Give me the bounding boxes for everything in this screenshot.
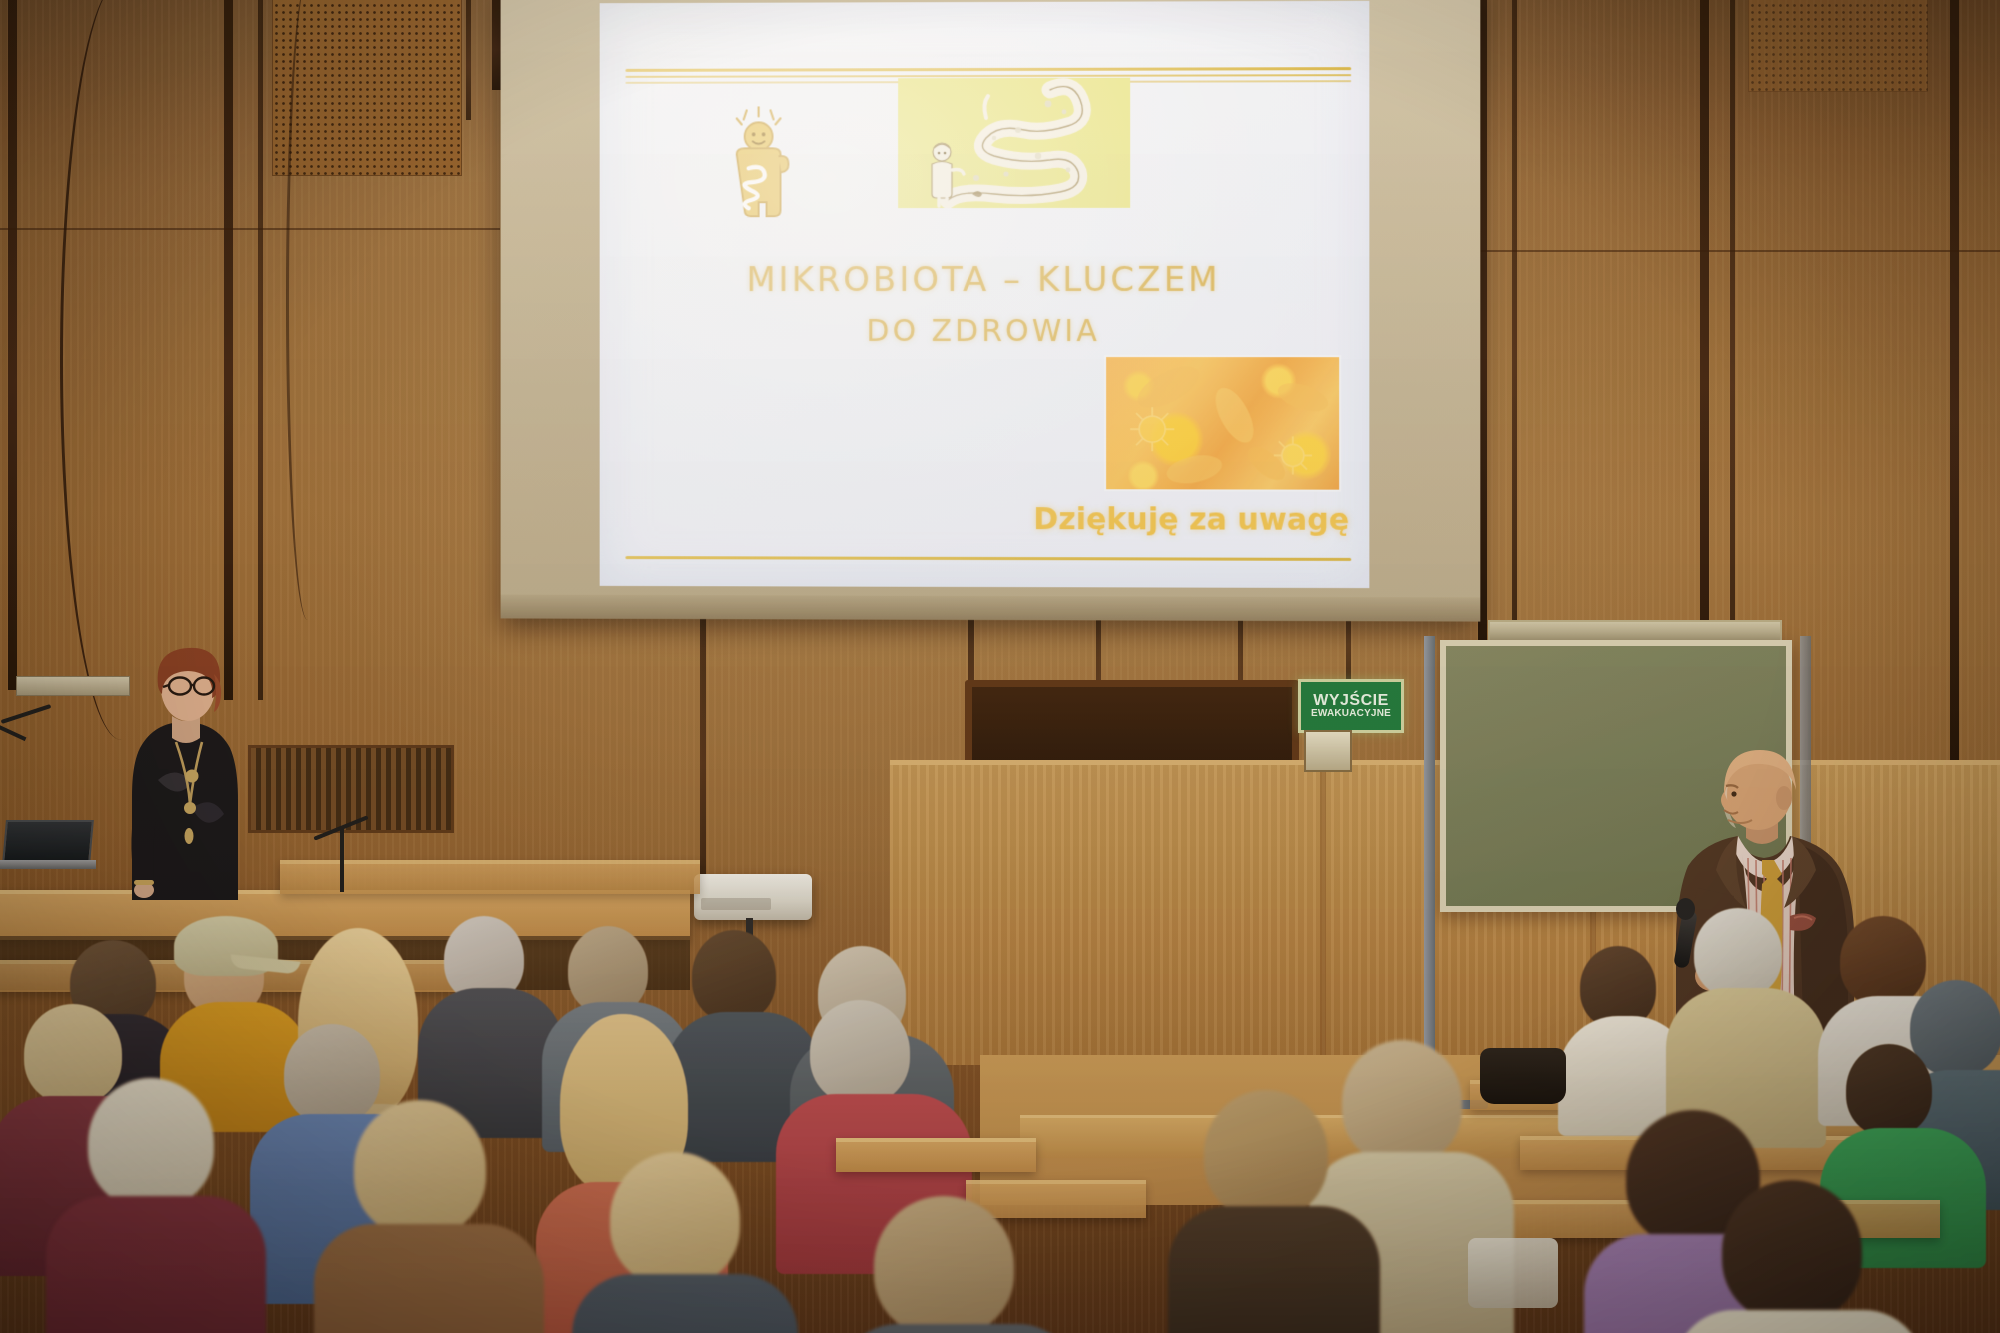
radiator xyxy=(248,745,454,833)
chalkboard-easel-leg xyxy=(1424,636,1435,1106)
wall-seam xyxy=(1950,0,1959,760)
slide-closing-note: Dziękuję za uwagę xyxy=(1033,502,1349,538)
intestine-with-doctor-icon xyxy=(898,78,1130,208)
wall-seam xyxy=(466,0,471,120)
wall-seam xyxy=(1512,0,1517,660)
slide-bottom-line xyxy=(625,556,1351,561)
audience-shoulders xyxy=(314,1224,544,1333)
audience-head xyxy=(874,1196,1014,1333)
audience-head xyxy=(24,1004,122,1104)
audience-head xyxy=(692,930,776,1022)
wall-mounted-box xyxy=(1304,730,1352,772)
audience-desk xyxy=(966,1180,1146,1218)
female-presenter xyxy=(118,640,248,890)
audience-head xyxy=(354,1100,486,1236)
table-microphone-stand xyxy=(340,828,344,892)
audience-head xyxy=(610,1152,740,1286)
projector xyxy=(694,874,812,920)
audience-shoulders xyxy=(46,1196,266,1333)
audience-head xyxy=(568,926,648,1014)
audience-head xyxy=(1846,1044,1932,1136)
podium-divider xyxy=(1320,765,1326,1065)
hanging-cable xyxy=(60,0,183,740)
laptop-keyboard[interactable] xyxy=(0,860,96,869)
wall-outlet-plate xyxy=(16,676,130,696)
audience-head xyxy=(1722,1180,1862,1322)
wall-seam xyxy=(8,0,17,690)
shopping-bag xyxy=(1468,1238,1558,1308)
audience-head-white-hair xyxy=(1694,908,1782,998)
intestine-svg xyxy=(898,78,1130,208)
audience-head xyxy=(284,1024,380,1124)
bacteria-microscopy-image xyxy=(1106,357,1339,490)
hanging-cable xyxy=(286,0,329,620)
slide-divider-line xyxy=(625,67,1351,72)
wall-seam xyxy=(1700,0,1709,700)
projector-ports xyxy=(701,898,771,910)
laptop xyxy=(0,820,98,872)
audience-head xyxy=(1204,1090,1328,1218)
audience-shoulders xyxy=(572,1274,798,1333)
slide-title-line-2: DO ZDROWIA xyxy=(600,314,1370,349)
laptop-screen[interactable] xyxy=(2,820,94,864)
emergency-exit-sign: WYJŚCIE EWAKUACYJNE xyxy=(1298,679,1404,733)
microphone-head xyxy=(1676,898,1695,920)
human-figure-with-gut-icon xyxy=(717,106,801,236)
cream-top xyxy=(1674,1310,1924,1333)
presentation-slide: MIKROBIOTA – KLUCZEM DO ZDROWIA xyxy=(600,1,1370,588)
wall-seam xyxy=(258,0,263,700)
human-gut-svg xyxy=(717,106,801,238)
wall-horizontal-seam xyxy=(1478,250,2000,252)
wall-seam xyxy=(224,0,233,700)
screen-bottom-bar xyxy=(501,595,1481,622)
presenter-figure-svg xyxy=(118,640,258,900)
audience-head xyxy=(810,1000,910,1104)
audience-desk xyxy=(836,1138,1036,1172)
bacteria-rods-svg xyxy=(1106,357,1339,490)
handbag xyxy=(1480,1048,1566,1104)
audience-shoulders xyxy=(1168,1206,1380,1333)
audience-head xyxy=(1840,916,1926,1006)
projection-screen: MIKROBIOTA – KLUCZEM DO ZDROWIA xyxy=(501,0,1481,622)
slide-title-line-1: MIKROBIOTA – KLUCZEM xyxy=(600,260,1370,300)
audience-head xyxy=(1342,1040,1462,1164)
exit-sign-line-2: EWAKUACYJNE xyxy=(1311,709,1391,719)
exit-sign-line-1: WYJŚCIE xyxy=(1313,693,1389,709)
lecture-hall-photo: MIKROBIOTA – KLUCZEM DO ZDROWIA xyxy=(0,0,2000,1333)
wall-seam xyxy=(1730,0,1735,700)
acoustic-panel xyxy=(1748,0,1928,92)
audience-head xyxy=(88,1078,214,1208)
support-rod xyxy=(700,598,706,898)
